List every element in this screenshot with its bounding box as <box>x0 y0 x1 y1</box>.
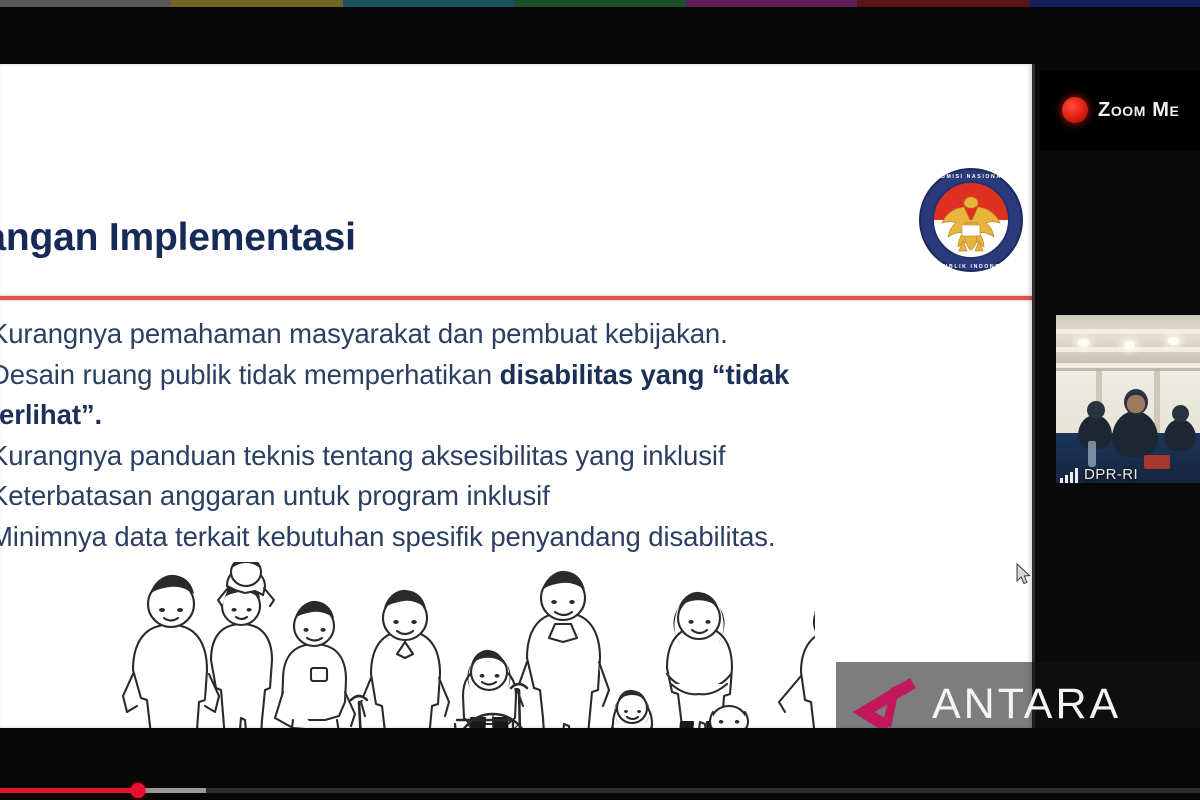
body-line-text: Minimnya data terkait kebutuhan spesifik… <box>0 521 775 552</box>
colorbar-segment <box>343 0 514 7</box>
title-divider-rule <box>0 296 1032 300</box>
water-bottle <box>1088 441 1096 467</box>
colorbar-segment <box>1029 0 1200 7</box>
zoom-header-title: Zoom Me <box>1098 99 1179 122</box>
participant-head <box>1087 401 1105 419</box>
participant-video-tile[interactable] <box>1056 315 1200 483</box>
colorbar-artifact <box>0 0 1200 7</box>
downlight <box>1124 341 1135 349</box>
ceiling-beam <box>1056 329 1200 334</box>
progress-scrubber-handle[interactable] <box>131 783 146 798</box>
participant-name: DPR-RI <box>1084 466 1138 483</box>
colorbar-segment <box>171 0 342 7</box>
participant-silhouette <box>1164 419 1196 451</box>
body-line-text: Desain ruang publik tidak memperhatikan <box>0 359 500 390</box>
body-line: Keterbatasan anggaran untuk program inkl… <box>0 476 1030 517</box>
inclusive-people-illustration <box>115 562 815 728</box>
colorbar-segment <box>514 0 685 7</box>
record-dot-icon <box>1062 97 1088 123</box>
body-line: Kurangnya panduan teknis tentang aksesib… <box>0 436 1030 477</box>
ceiling-beam <box>1056 363 1200 368</box>
downlight <box>1168 337 1179 345</box>
body-line-text: Keterbatasan anggaran untuk program inkl… <box>0 480 550 511</box>
panel-divider <box>1032 64 1035 728</box>
signal-strength-icon <box>1060 468 1078 483</box>
video-progress-bar[interactable] <box>0 788 1200 793</box>
slide-title: ntangan Implementasi <box>0 216 356 260</box>
body-line-emphasis: terlihat”. <box>0 399 102 430</box>
participant-name-badge: DPR-RI <box>1060 466 1138 483</box>
body-line-text: Kurangnya pemahaman masyarakat dan pembu… <box>0 318 728 349</box>
video-frame: ntangan Implementasi KOMISI NASIONAL REP… <box>0 0 1200 800</box>
svg-text:REPUBLIK INDONESIA: REPUBLIK INDONESIA <box>928 264 1014 270</box>
colorbar-segment <box>857 0 1028 7</box>
mouse-cursor <box>1016 563 1032 585</box>
colorbar-segment <box>0 0 171 7</box>
zoom-header-bar: Zoom Me <box>1040 70 1200 150</box>
body-line: Kurangnya pemahaman masyarakat dan pembu… <box>0 314 1030 355</box>
tissue-box <box>1144 455 1170 469</box>
antara-wordmark: ANTARA <box>932 680 1121 729</box>
colorbar-segment <box>686 0 857 7</box>
svg-text:KOMISI NASIONAL: KOMISI NASIONAL <box>936 174 1007 180</box>
body-line: Desain ruang publik tidak memperhatikan … <box>0 355 1030 396</box>
participant-silhouette <box>1112 411 1158 457</box>
antara-logo-icon <box>850 672 924 736</box>
body-line: terlihat”. <box>0 395 1030 436</box>
participant-face <box>1127 395 1145 413</box>
body-line: Minimnya data terkait kebutuhan spesifik… <box>0 517 1030 558</box>
downlight <box>1078 339 1089 347</box>
presentation-slide: ntangan Implementasi KOMISI NASIONAL REP… <box>0 64 1032 728</box>
body-line-emphasis: disabilitas yang “tidak <box>500 359 790 390</box>
slide-body-text: Kurangnya pemahaman masyarakat dan pembu… <box>0 314 1030 557</box>
komisi-nasional-disabilitas-emblem: KOMISI NASIONAL REPUBLIK INDONESIA <box>918 167 1024 273</box>
participant-head <box>1172 405 1189 422</box>
progress-played <box>0 788 138 793</box>
body-line-text: Kurangnya panduan teknis tentang aksesib… <box>0 440 725 471</box>
letterbox-top <box>0 7 1200 64</box>
